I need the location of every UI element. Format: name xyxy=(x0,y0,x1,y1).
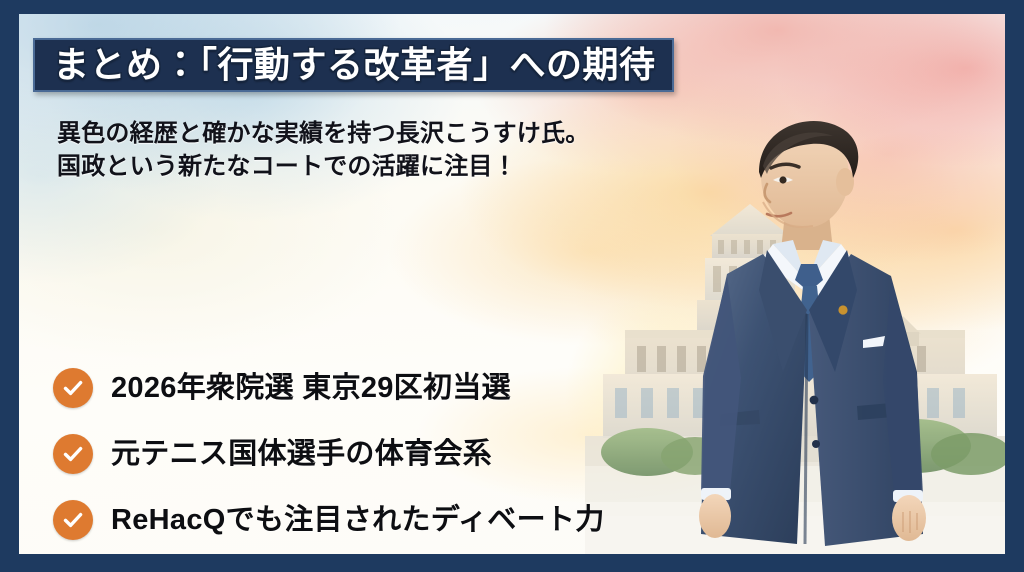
list-item: ReHacQでも注目されたディベート力 xyxy=(53,498,605,542)
slide-canvas: まとめ：「行動する改革者」への期待 異色の経歴と確かな実績を持つ長沢こうすけ氏。… xyxy=(19,14,1005,554)
key-points-list: 2026年衆院選 東京29区初当選 元テニス国体選手の体育会系 ReHacQでも… xyxy=(53,366,605,542)
subtitle-line-2: 国政という新たなコートでの活躍に注目！ xyxy=(57,151,589,184)
list-item: 元テニス国体選手の体育会系 xyxy=(53,432,605,476)
check-circle-icon xyxy=(53,434,93,474)
slide-root: まとめ：「行動する改革者」への期待 異色の経歴と確かな実績を持つ長沢こうすけ氏。… xyxy=(0,0,1024,572)
list-item-label: 元テニス国体選手の体育会系 xyxy=(111,440,492,469)
page-title: まとめ：「行動する改革者」への期待 xyxy=(53,47,656,83)
slide-subtitle: 異色の経歴と確かな実績を持つ長沢こうすけ氏。 国政という新たなコートでの活躍に注… xyxy=(57,118,589,183)
man-in-navy-suit-illustration xyxy=(667,114,967,554)
subtitle-line-1: 異色の経歴と確かな実績を持つ長沢こうすけ氏。 xyxy=(57,118,589,151)
list-item: 2026年衆院選 東京29区初当選 xyxy=(53,366,605,410)
list-item-label: 2026年衆院選 東京29区初当選 xyxy=(111,374,511,403)
list-item-label: ReHacQでも注目されたディベート力 xyxy=(111,506,605,535)
slide-title-bar: まとめ：「行動する改革者」への期待 xyxy=(33,38,674,92)
check-circle-icon xyxy=(53,368,93,408)
check-circle-icon xyxy=(53,500,93,540)
